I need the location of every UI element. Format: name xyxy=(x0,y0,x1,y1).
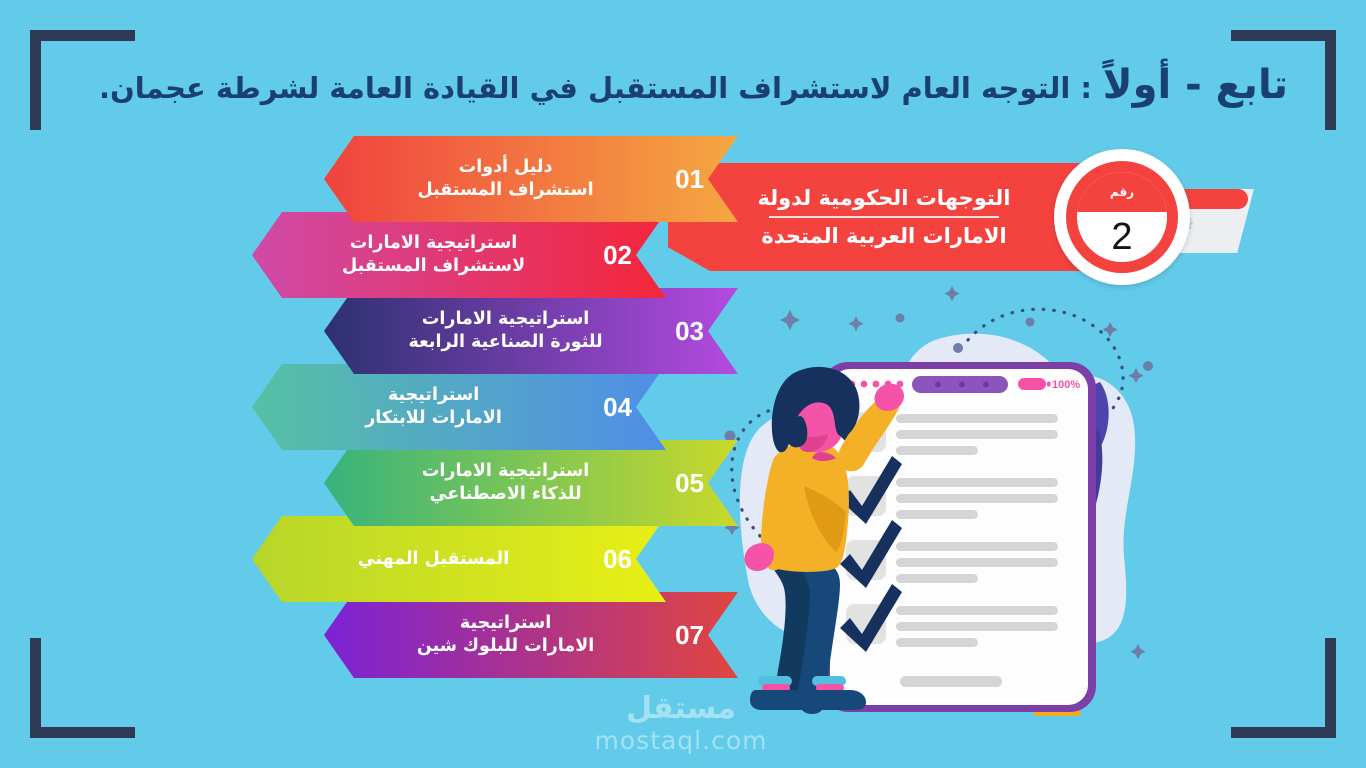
page-title-rest: : التوجه العام لاستشراف المستقبل في القي… xyxy=(99,71,1092,105)
strategy-item-label: استراتيجيةالامارات للابتكار xyxy=(278,384,589,430)
strategy-item-number: 02 xyxy=(589,240,632,271)
badge-ring: رقم 2 xyxy=(1066,161,1178,273)
strategy-item-number: 01 xyxy=(661,164,704,195)
phone-mockup: 100% xyxy=(822,362,1096,712)
strategy-item-label: استراتيجيةالامارات للبلوك شين xyxy=(350,612,661,658)
strategy-item-number: 05 xyxy=(661,468,704,499)
strategy-item-label: استراتيجية الاماراتللذكاء الاصطناعي xyxy=(350,460,661,506)
badge-label: رقم xyxy=(1110,185,1134,199)
strategy-item-label: دليل أدواتاستشراف المستقبل xyxy=(350,156,661,202)
section-banner: التوجهات الحكومية لدولة الامارات العربية… xyxy=(668,163,1254,271)
page-title: تابع - أولاً : التوجه العام لاستشراف الم… xyxy=(150,60,1288,110)
section-number-badge: رقم 2 xyxy=(1054,149,1190,285)
battery-percent-label: 100% xyxy=(1052,379,1080,391)
strategy-item-05[interactable]: 05استراتيجية الاماراتللذكاء الاصطناعي xyxy=(324,440,738,526)
strategy-item-01[interactable]: 01دليل أدواتاستشراف المستقبل xyxy=(324,136,738,222)
strategy-item-number: 07 xyxy=(661,620,704,651)
strategy-item-04[interactable]: 04استراتيجيةالامارات للابتكار xyxy=(252,364,666,450)
strategy-item-03[interactable]: 03استراتيجية الاماراتللثورة الصناعية الر… xyxy=(324,288,738,374)
checklist-illustration: 100% xyxy=(700,276,1180,724)
banner-line-2: الامارات العربية المتحدة xyxy=(761,221,1006,251)
corner-bracket-bottom-right xyxy=(1231,638,1336,738)
corner-bracket-bottom-left xyxy=(30,638,135,738)
banner-body: التوجهات الحكومية لدولة الامارات العربية… xyxy=(668,163,1120,271)
strategy-chevron-list: 01دليل أدواتاستشراف المستقبل02استراتيجية… xyxy=(236,136,666,668)
page-title-lead: تابع - أولاً xyxy=(1103,62,1288,108)
watermark-latin: mostaql.com xyxy=(556,726,806,755)
strategy-item-number: 03 xyxy=(661,316,704,347)
strategy-item-label: المستقبل المهني xyxy=(278,548,589,571)
strategy-item-number: 04 xyxy=(589,392,632,423)
strategy-item-02[interactable]: 02استراتيجية الاماراتلاستشراف المستقبل xyxy=(252,212,666,298)
strategy-item-06[interactable]: 06المستقبل المهني xyxy=(252,516,666,602)
banner-line-1: التوجهات الحكومية لدولة xyxy=(757,183,1010,213)
badge-number-area: 2 xyxy=(1077,212,1167,262)
badge-number: 2 xyxy=(1111,218,1132,256)
strategy-item-07[interactable]: 07استراتيجيةالامارات للبلوك شين xyxy=(324,592,738,678)
strategy-item-label: استراتيجية الاماراتلاستشراف المستقبل xyxy=(278,232,589,278)
strategy-item-label: استراتيجية الاماراتللثورة الصناعية الراب… xyxy=(350,308,661,354)
banner-divider xyxy=(769,216,999,218)
badge-label-area: رقم xyxy=(1077,172,1167,212)
strategy-item-number: 06 xyxy=(589,544,632,575)
